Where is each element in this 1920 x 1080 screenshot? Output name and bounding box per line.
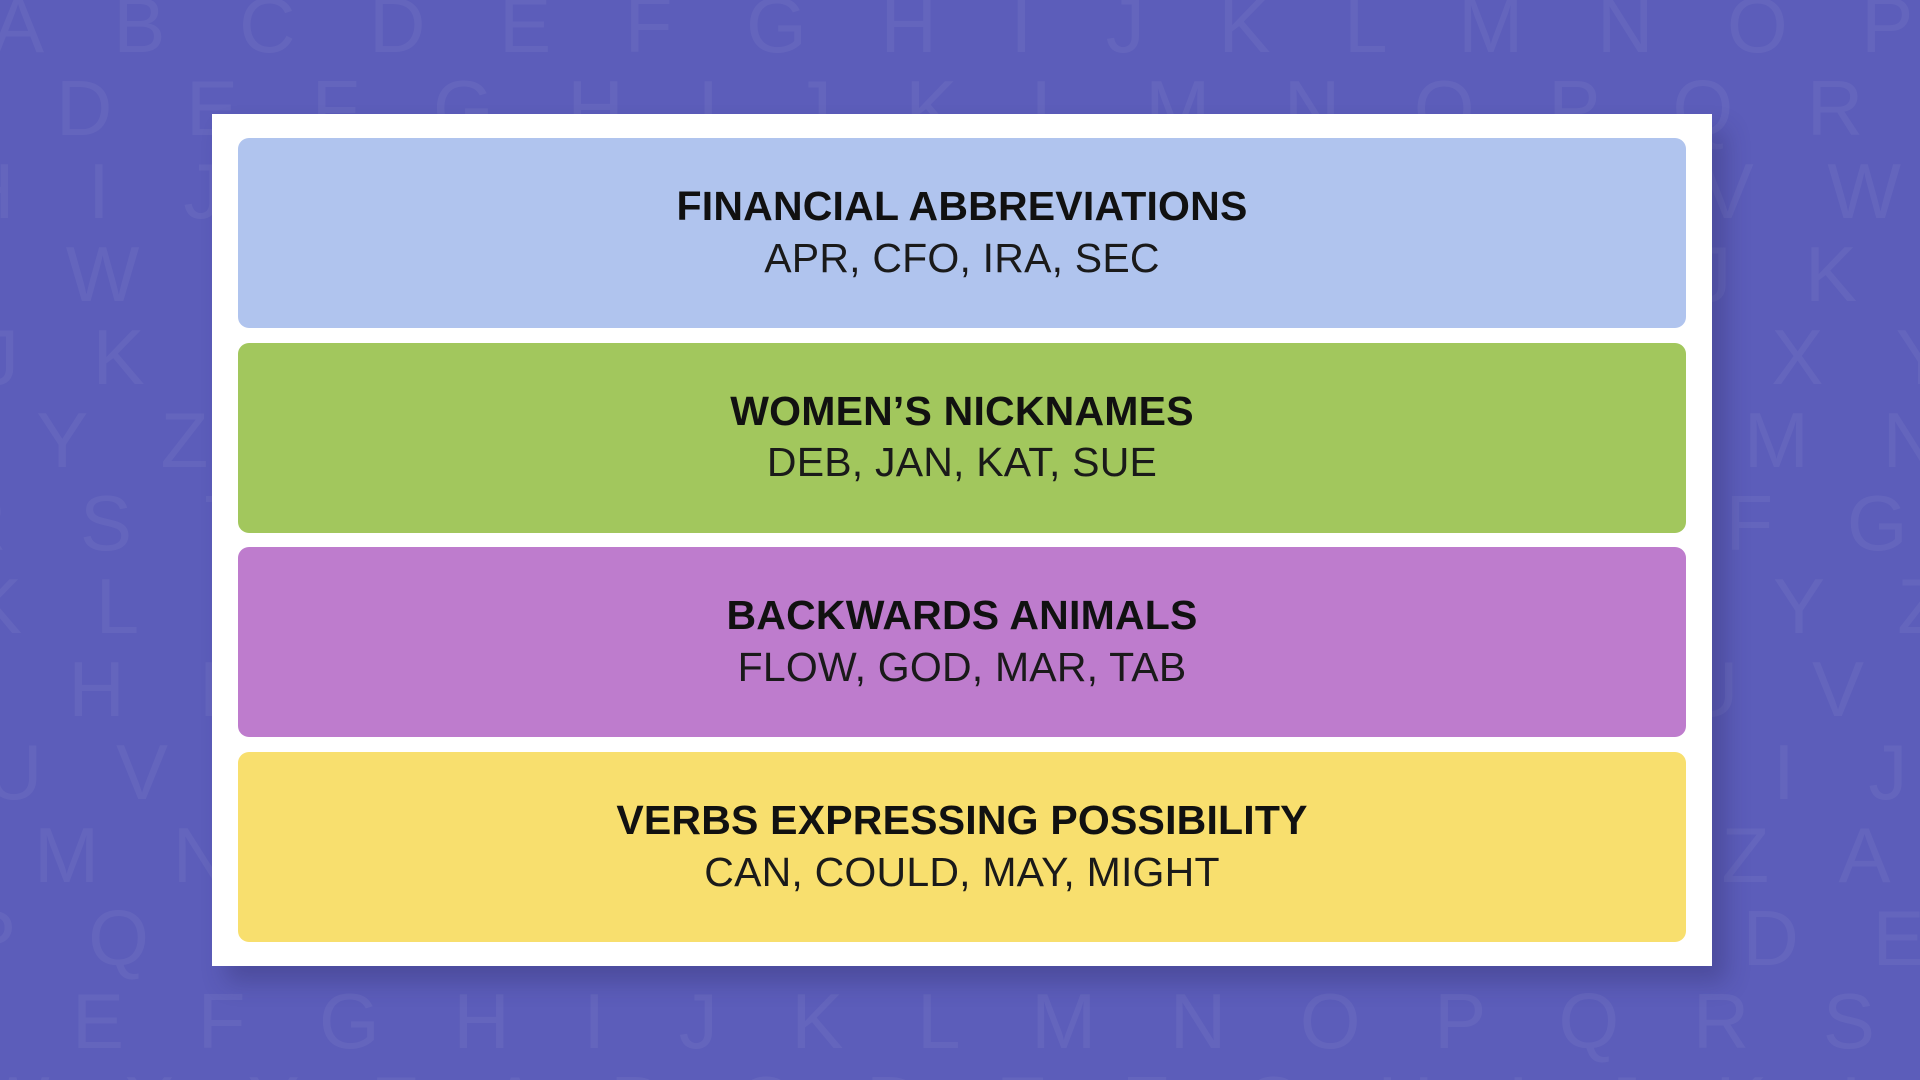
category-members: DEB, JAN, KAT, SUE xyxy=(767,438,1157,486)
category-members: APR, CFO, IRA, SEC xyxy=(764,234,1159,282)
category-row: VERBS EXPRESSING POSSIBILITY CAN, COULD,… xyxy=(238,752,1686,942)
category-title: FINANCIAL ABBREVIATIONS xyxy=(676,184,1247,230)
background-letter-row: A B C D E F G H I J K L M N O P Q R S T … xyxy=(0,0,1920,64)
puzzle-answer-card: FINANCIAL ABBREVIATIONS APR, CFO, IRA, S… xyxy=(212,114,1712,966)
category-row: WOMEN’S NICKNAMES DEB, JAN, KAT, SUE xyxy=(238,343,1686,533)
category-row: FINANCIAL ABBREVIATIONS APR, CFO, IRA, S… xyxy=(238,138,1686,328)
category-members: CAN, COULD, MAY, MIGHT xyxy=(704,848,1219,896)
category-title: VERBS EXPRESSING POSSIBILITY xyxy=(616,798,1307,844)
background-letter-row: W X Y Z A B C D E F G H I J K L M N O P … xyxy=(0,1065,1920,1080)
category-row: BACKWARDS ANIMALS FLOW, GOD, MAR, TAB xyxy=(238,547,1686,737)
category-members: FLOW, GOD, MAR, TAB xyxy=(738,643,1187,691)
category-title: BACKWARDS ANIMALS xyxy=(726,593,1197,639)
background-letter-row: D E F G H I J K L M N O P Q R S T U V W … xyxy=(0,982,1920,1060)
category-title: WOMEN’S NICKNAMES xyxy=(730,389,1194,435)
